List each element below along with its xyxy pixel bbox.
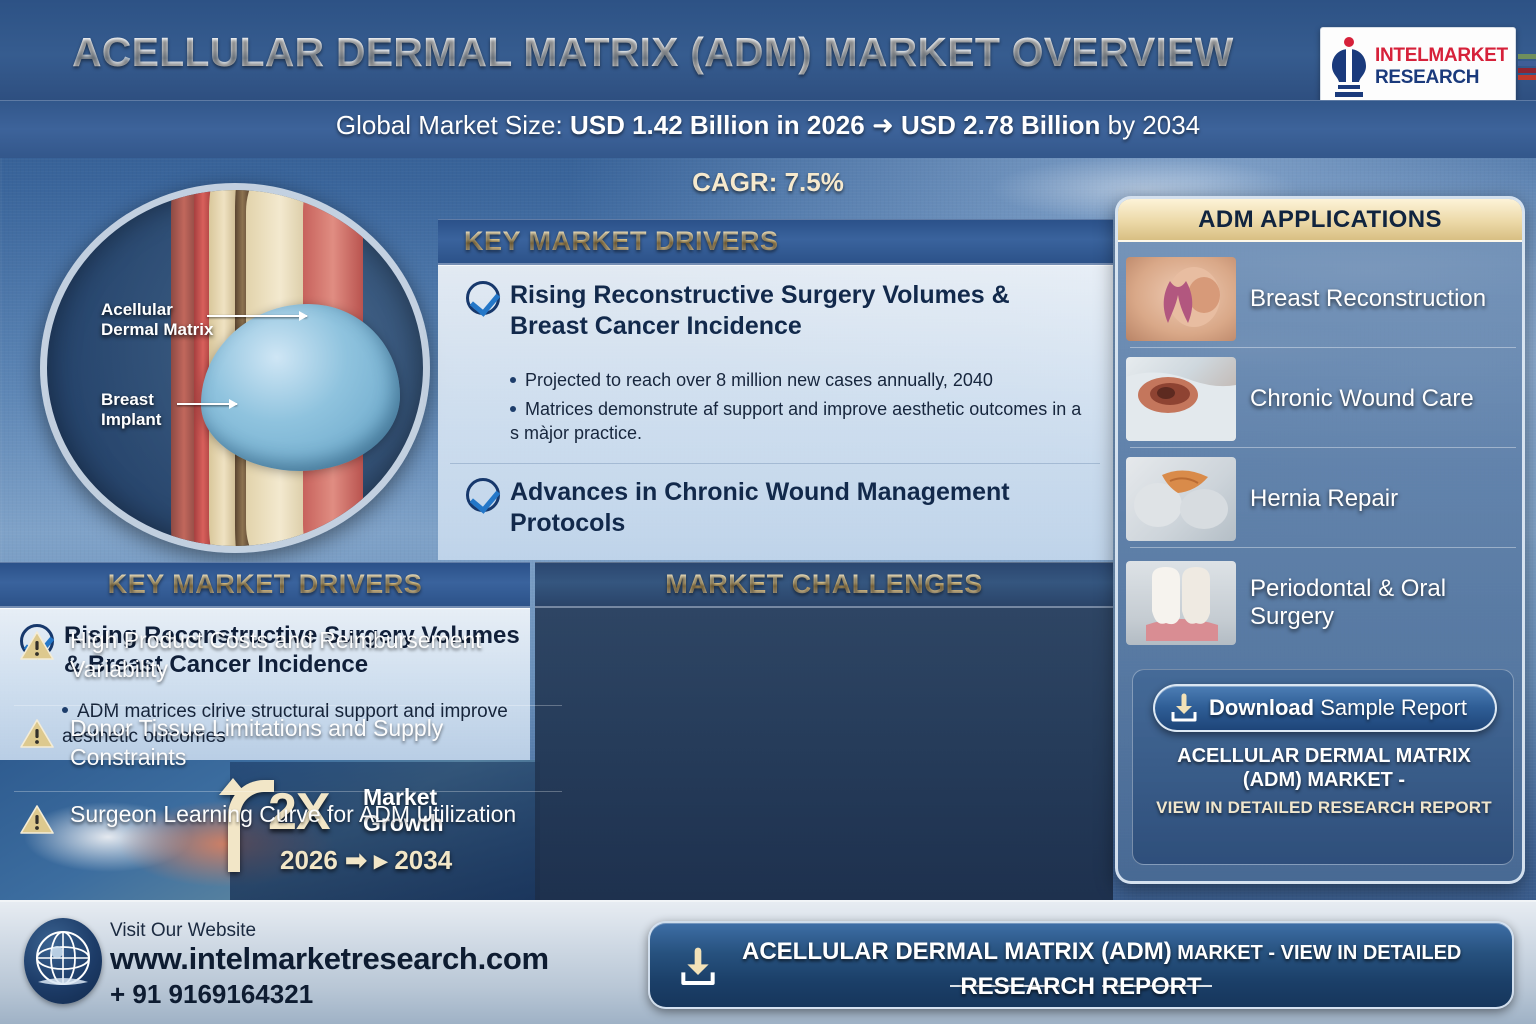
lightbulb-person-logo-icon — [1329, 36, 1369, 98]
driver-1-bullet-1: Projected to reach over 8 million new ca… — [510, 369, 1105, 393]
key-market-drivers-bottom-header: KEY MARKET DRIVERS — [0, 562, 530, 608]
market-challenges-header: MARKET CHALLENGES — [535, 562, 1113, 608]
phone-number[interactable]: + 91 9169164321 — [110, 979, 313, 1010]
subtitle-arrow-icon: ➜ — [872, 110, 894, 140]
download-sample-card: Download Sample Report ACELLULAR DERMAL … — [1132, 669, 1514, 865]
download-button-label-bold: Download — [1209, 695, 1314, 720]
application-item-chronic-wound-care[interactable]: Chronic Wound Care — [1118, 351, 1522, 447]
arrow-to-matrix-icon — [207, 315, 307, 317]
website-url[interactable]: www.intelmarketresearch.com — [110, 941, 549, 977]
download-card-title: ACELLULAR DERMAL MATRIX (ADM) MARKET - — [1145, 744, 1503, 793]
application-separator — [1130, 347, 1516, 348]
subtitle-suffix: by 2034 — [1100, 110, 1200, 140]
footer-cta-button[interactable]: ACELLULAR DERMAL MATRIX (ADM) MARKET - V… — [648, 921, 1514, 1009]
label-breast-implant: Breast Implant — [101, 390, 161, 429]
driver-1-bullet-1-text: Projected to reach over 8 million new ca… — [525, 370, 993, 390]
download-button-label-rest: Sample Report — [1314, 695, 1467, 720]
application-separator — [1130, 547, 1516, 548]
logo-wordmark: INTELMARKET RESEARCH — [1375, 46, 1508, 87]
logo-word-intelmarket: INTELMARKET — [1375, 46, 1508, 65]
warning-triangle-icon — [20, 718, 54, 749]
check-circle-icon — [466, 478, 500, 512]
teeth-gums-thumbnail — [1126, 561, 1236, 645]
challenge-separator — [14, 791, 562, 792]
application-item-hernia-repair[interactable]: Hernia Repair — [1118, 451, 1522, 547]
cta-line-2: RESEARCH REPORT — [650, 973, 1512, 1001]
key-market-drivers-top-header: KEY MARKET DRIVERS — [438, 219, 1113, 265]
bullet-dot-icon — [62, 707, 68, 713]
label-acellular-dermal-matrix: Acellular Dermal Matrix — [101, 300, 213, 339]
visit-website-label: Visit Our Website — [110, 920, 256, 942]
infographic-root: ACELLULAR DERMAL MATRIX (ADM) MARKET OVE… — [0, 0, 1536, 1024]
cta-line-1: ACELLULAR DERMAL MATRIX (ADM) MARKET - V… — [742, 938, 1496, 966]
subtitle-value-2034: USD 2.78 Billion — [901, 110, 1100, 140]
globe-icon — [24, 918, 102, 1004]
breast-pink-ribbon-thumbnail — [1126, 257, 1236, 341]
driver-1-title: Rising Reconstructive Surgery Volumes & … — [510, 280, 1090, 341]
adm-applications-header: ADM APPLICATIONS — [1118, 199, 1522, 242]
growth-years: 2026 ➡ ▸ 2034 — [280, 845, 452, 876]
driver-separator — [450, 463, 1100, 464]
market-challenges-body — [535, 608, 1113, 900]
application-label: Periodontal & Oral Surgery — [1250, 575, 1522, 631]
application-label: Breast Reconstruction — [1250, 285, 1486, 313]
cta-line-1-small: MARKET - VIEW IN DETAILED — [1172, 942, 1462, 964]
adm-applications-panel: ADM APPLICATIONS Breast Reconstruction — [1115, 196, 1525, 884]
page-title: ACELLULAR DERMAL MATRIX (ADM) MARKET OVE… — [72, 29, 1302, 85]
download-button-label: Download Sample Report — [1209, 695, 1467, 721]
logo-word-research: RESEARCH — [1375, 68, 1508, 87]
challenge-3-text: Surgeon Learning Curve for ADM Utilizati… — [70, 800, 516, 829]
warning-triangle-icon — [20, 630, 54, 661]
application-separator — [1130, 447, 1516, 448]
challenge-separator — [14, 705, 562, 706]
subtitle-value-2026: USD 1.42 Billion in 2026 — [570, 110, 865, 140]
market-size-subtitle: Global Market Size: USD 1.42 Billion in … — [0, 110, 1536, 141]
warning-triangle-icon — [20, 804, 54, 835]
arrow-to-implant-icon — [177, 403, 237, 405]
driver-1-bullet-2-text: Matrices demonstrute af support and impr… — [510, 399, 1081, 443]
driver-2-title: Advances in Chronic Wound Management Pro… — [510, 477, 1090, 538]
check-circle-icon — [466, 281, 500, 315]
hernia-mesh-thumbnail — [1126, 457, 1236, 541]
application-label: Hernia Repair — [1250, 485, 1398, 513]
bullet-dot-icon — [510, 377, 516, 383]
logo-flag-bars — [1518, 54, 1536, 80]
key-market-drivers-top-heading: KEY MARKET DRIVERS — [464, 226, 779, 257]
cta-line-1-main: ACELLULAR DERMAL MATRIX (ADM) — [742, 938, 1172, 965]
application-item-breast-reconstruction[interactable]: Breast Reconstruction — [1118, 251, 1522, 347]
adm-applications-heading: ADM APPLICATIONS — [1198, 206, 1442, 234]
download-card-subtitle: VIEW IN DETAILED RESEARCH REPORT — [1145, 798, 1503, 818]
breast-implant-anatomy-diagram: Acellular Dermal Matrix Breast Implant — [40, 183, 430, 553]
key-market-drivers-bottom-heading: KEY MARKET DRIVERS — [108, 569, 423, 600]
application-label: Chronic Wound Care — [1250, 385, 1474, 413]
brand-logo: INTELMARKET RESEARCH — [1320, 27, 1516, 106]
challenge-1-text: High Product Costs and Reimbursement Var… — [70, 626, 560, 684]
application-item-periodontal-oral-surgery[interactable]: Periodontal & Oral Surgery — [1118, 551, 1522, 655]
download-icon — [1169, 693, 1199, 723]
gloved-hand-wound-thumbnail — [1126, 357, 1236, 441]
bullet-dot-icon — [510, 406, 516, 412]
market-challenges-heading: MARKET CHALLENGES — [665, 569, 983, 600]
driver-1-bullet-2: Matrices demonstrute af support and impr… — [510, 398, 1090, 446]
challenge-2-text: Donor Tissue Limitations and Supply Cons… — [70, 714, 560, 772]
download-sample-report-button[interactable]: Download Sample Report — [1153, 684, 1497, 732]
subtitle-prefix: Global Market Size: — [336, 110, 570, 140]
